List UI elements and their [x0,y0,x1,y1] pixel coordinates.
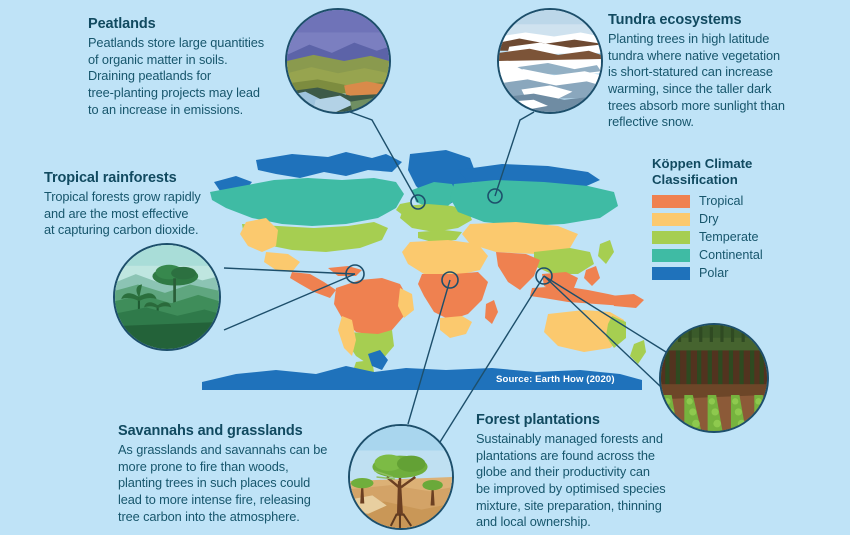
callout-plantation-title: Forest plantations [476,412,692,429]
climate-legend: Köppen Climate Classification TropicalDr… [652,156,802,284]
legend-item-dry: Dry [652,212,802,228]
callout-rainforest-body: Tropical forests grow rapidly and are th… [44,189,256,239]
legend-swatch-dry [652,213,690,226]
photo-peatlands [285,8,391,114]
tundra-anchor [488,189,502,203]
peatlands-anchor [411,195,425,209]
callout-tundra: Tundra ecosystems Planting trees in high… [608,12,822,131]
callout-peatlands-body: Peatlands store large quantities of orga… [88,35,288,118]
callout-peatlands-title: Peatlands [88,16,288,33]
rainforest-anchor [346,265,364,283]
plantation-anchor [536,268,552,284]
callout-plantation-body: Sustainably managed forests and plantati… [476,431,692,531]
legend-label-tropical: Tropical [699,195,743,208]
photo-peatlands-art [287,10,389,112]
legend-label-temperate: Temperate [699,231,759,244]
legend-swatch-tropical [652,195,690,208]
legend-swatch-continental [652,249,690,262]
legend-rows: TropicalDryTemperateContinentalPolar [652,194,802,282]
legend-item-continental: Continental [652,248,802,264]
photo-tundra-art [499,10,601,112]
callout-tundra-title: Tundra ecosystems [608,12,822,29]
legend-item-temperate: Temperate [652,230,802,246]
callout-tundra-body: Planting trees in high latitude tundra w… [608,31,822,131]
legend-item-polar: Polar [652,266,802,282]
callout-peatlands: Peatlands Peatlands store large quantiti… [88,16,288,118]
callout-savannah-body: As grasslands and savannahs can be more … [118,442,344,525]
photo-savannah [348,424,454,530]
callout-plantation: Forest plantations Sustainably managed f… [476,412,692,531]
callout-rainforest-title: Tropical rainforests [44,170,256,187]
callout-savannah-title: Savannahs and grasslands [118,423,344,440]
legend-swatch-temperate [652,231,690,244]
legend-label-dry: Dry [699,213,719,226]
legend-label-polar: Polar [699,267,728,280]
callout-rainforest: Tropical rainforests Tropical forests gr… [44,170,256,239]
legend-title: Köppen Climate Classification [652,156,802,188]
callout-savannah: Savannahs and grasslands As grasslands a… [118,423,344,525]
legend-label-continental: Continental [699,249,763,262]
savannah-anchor [442,272,458,288]
photo-tundra [497,8,603,114]
photo-rainforest [113,243,221,351]
legend-swatch-polar [652,267,690,280]
legend-item-tropical: Tropical [652,194,802,210]
photo-rainforest-art [115,245,219,349]
photo-savannah-art [350,426,452,528]
infographic-canvas: Source: Earth How (2020) [0,0,850,535]
